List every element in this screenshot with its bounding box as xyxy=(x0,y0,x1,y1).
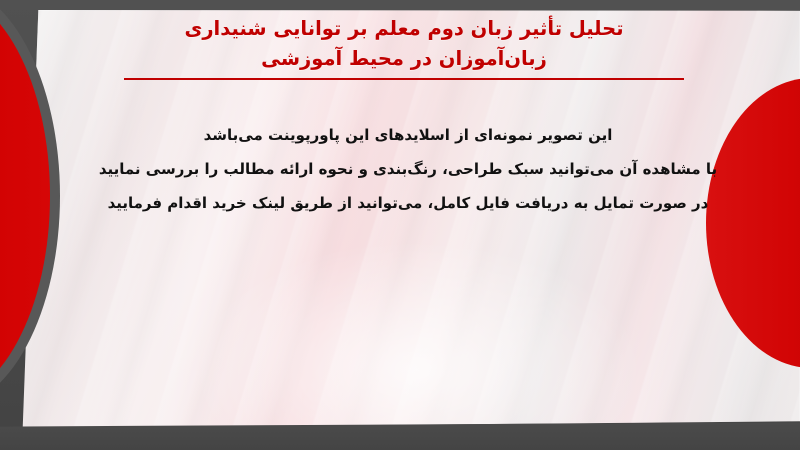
slide-body-text: این تصویر نمونه‌ای از اسلایدهای این پاور… xyxy=(88,118,728,220)
title-underline-rule xyxy=(124,78,684,80)
presentation-slide: تحلیل تأثیر زبان دوم معلم بر توانایی شنی… xyxy=(0,0,800,450)
body-line-2: با مشاهده آن می‌توانید سبک طراحی، رنگ‌بن… xyxy=(88,152,728,186)
body-line-1: این تصویر نمونه‌ای از اسلایدهای این پاور… xyxy=(88,118,728,152)
title-line-1: تحلیل تأثیر زبان دوم معلم بر توانایی شنی… xyxy=(94,14,714,44)
title-line-2: زبان‌آموزان در محیط آموزشی xyxy=(94,44,714,74)
slide-title: تحلیل تأثیر زبان دوم معلم بر توانایی شنی… xyxy=(94,14,714,80)
plate-highlight-glow xyxy=(190,240,644,450)
body-line-3: در صورت تمایل به دریافت فایل کامل، می‌تو… xyxy=(88,186,728,220)
